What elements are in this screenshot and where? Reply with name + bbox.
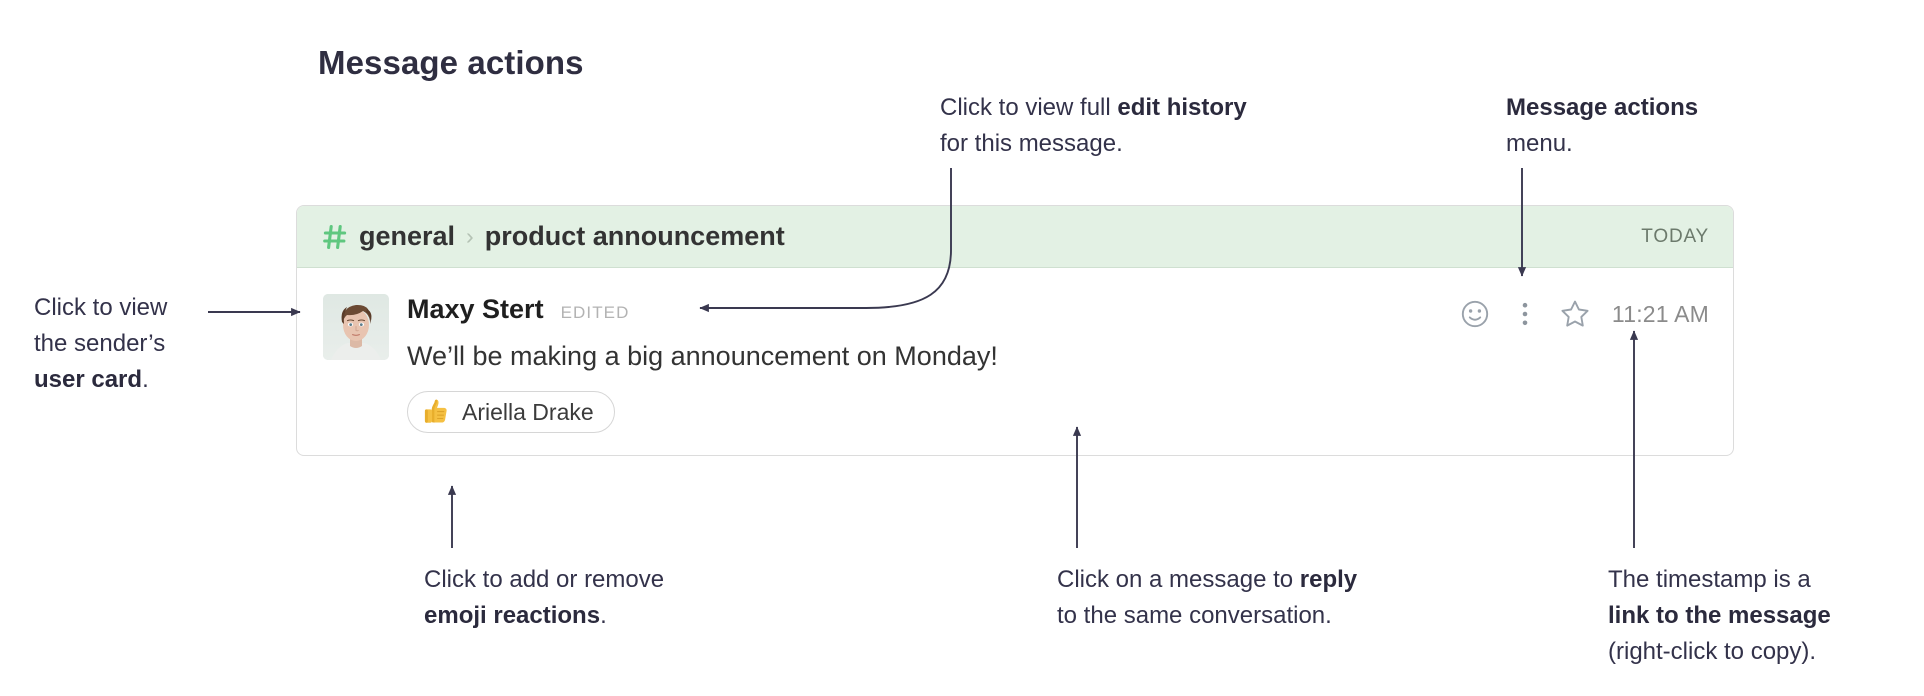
annotation-emoji-reactions: Click to add or remove emoji reactions. — [424, 562, 664, 634]
message-body[interactable]: We’ll be making a big announcement on Mo… — [407, 339, 1709, 373]
annotation-edit-history-emphasis: edit history — [1117, 94, 1246, 121]
thumbs-up-icon — [421, 397, 451, 427]
annotation-message-actions: Message actions menu. — [1506, 90, 1698, 162]
emoji-picker-icon[interactable] — [1459, 298, 1491, 330]
annotation-emoji-reactions-period: . — [600, 602, 607, 629]
annotation-reply: Click on a message to reply to the same … — [1057, 562, 1357, 634]
message-actions-menu-icon[interactable] — [1509, 298, 1541, 330]
annotation-user-card-line1: Click to view — [34, 290, 167, 326]
annotation-user-card-emphasis: user card — [34, 366, 142, 393]
hash-icon — [323, 224, 347, 250]
annotation-edit-history-line1: Click to view full edit history — [940, 90, 1247, 126]
annotation-user-card-line3: user card. — [34, 362, 167, 398]
annotation-emoji-reactions-line1: Click to add or remove — [424, 562, 664, 598]
annotation-timestamp-emphasis: link to the message — [1608, 602, 1831, 629]
star-message-icon[interactable] — [1559, 298, 1591, 330]
reactions-row: Ariella Drake — [407, 391, 1709, 433]
annotation-timestamp-line2: link to the message — [1608, 598, 1831, 634]
message-timestamp[interactable]: 11:21 AM — [1612, 301, 1709, 328]
message-card: general › product announcement TODAY — [296, 205, 1734, 456]
annotation-timestamp-line1: The timestamp is a — [1608, 562, 1831, 598]
annotation-reply-emphasis: reply — [1300, 566, 1357, 593]
reaction-pill[interactable]: Ariella Drake — [407, 391, 615, 433]
chevron-right-icon: › — [466, 225, 474, 248]
edited-badge[interactable]: EDITED — [561, 303, 630, 323]
recipient-bar[interactable]: general › product announcement TODAY — [297, 206, 1733, 268]
annotation-message-actions-line2: menu. — [1506, 126, 1698, 162]
stream-name[interactable]: general — [359, 221, 455, 252]
annotation-reply-lead: Click on a message to — [1057, 566, 1300, 593]
annotation-message-actions-emphasis: Message actions — [1506, 94, 1698, 121]
annotation-user-card: Click to view the sender’s user card. — [34, 290, 167, 398]
annotation-message-actions-line1: Message actions — [1506, 90, 1698, 126]
date-label: TODAY — [1641, 226, 1709, 248]
annotation-reply-line1: Click on a message to reply — [1057, 562, 1357, 598]
page-title: Message actions — [318, 44, 584, 82]
annotation-edit-history-lead: Click to view full — [940, 94, 1117, 121]
sender-name[interactable]: Maxy Stert — [407, 294, 544, 325]
annotation-timestamp: The timestamp is a link to the message (… — [1608, 562, 1831, 670]
annotation-emoji-reactions-emphasis: emoji reactions — [424, 602, 600, 629]
message-row[interactable]: Maxy Stert EDITED We’ll be making a big … — [297, 268, 1733, 455]
avatar[interactable] — [323, 294, 389, 360]
annotation-user-card-period: . — [142, 366, 149, 393]
topic-name[interactable]: product announcement — [485, 221, 785, 252]
message-controls: 11:21 AM — [1459, 298, 1709, 330]
annotation-user-card-line2: the sender’s — [34, 326, 167, 362]
annotation-edit-history-line2: for this message. — [940, 126, 1247, 162]
annotation-reply-line2: to the same conversation. — [1057, 598, 1357, 634]
annotation-timestamp-line3: (right-click to copy). — [1608, 634, 1831, 670]
annotation-edit-history: Click to view full edit history for this… — [940, 90, 1247, 162]
reaction-label: Ariella Drake — [462, 399, 594, 426]
annotation-emoji-reactions-line2: emoji reactions. — [424, 598, 664, 634]
